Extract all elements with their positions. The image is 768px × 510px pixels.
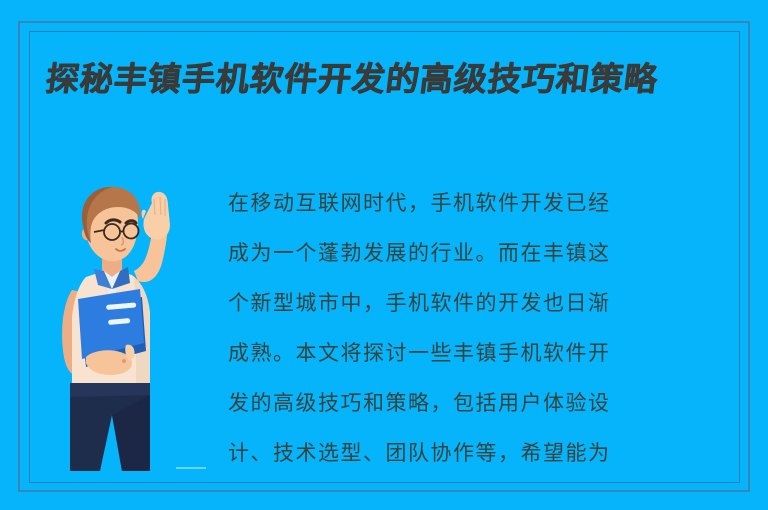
article-line: 发的高级技巧和策略，包括用户体验设: [228, 378, 736, 428]
pants: [70, 383, 150, 471]
article-line: 计、技术选型、团队协作等，希望能为: [228, 428, 736, 478]
article-line: 成为一个蓬勃发展的行业。而在丰镇这: [228, 228, 736, 278]
page-title: 探秘丰镇手机软件开发的高级技巧和策略: [43, 55, 739, 103]
illustration-man-waving-holding-book: [50, 185, 220, 480]
waving-hand: [142, 192, 170, 239]
article-line: 成熟。本文将探讨一些丰镇手机软件开: [228, 328, 736, 378]
head: [82, 187, 140, 261]
poster-canvas: 探秘丰镇手机软件开发的高级技巧和策略: [0, 0, 768, 510]
article-body: 在移动互联网时代，手机软件开发已经 成为一个蓬勃发展的行业。而在丰镇这 个新型城…: [228, 178, 736, 478]
floor-accent-line: [176, 467, 206, 469]
article-line: 个新型城市中，手机软件的开发也日渐: [228, 278, 736, 328]
article-line: 在移动互联网时代，手机软件开发已经: [228, 178, 736, 228]
